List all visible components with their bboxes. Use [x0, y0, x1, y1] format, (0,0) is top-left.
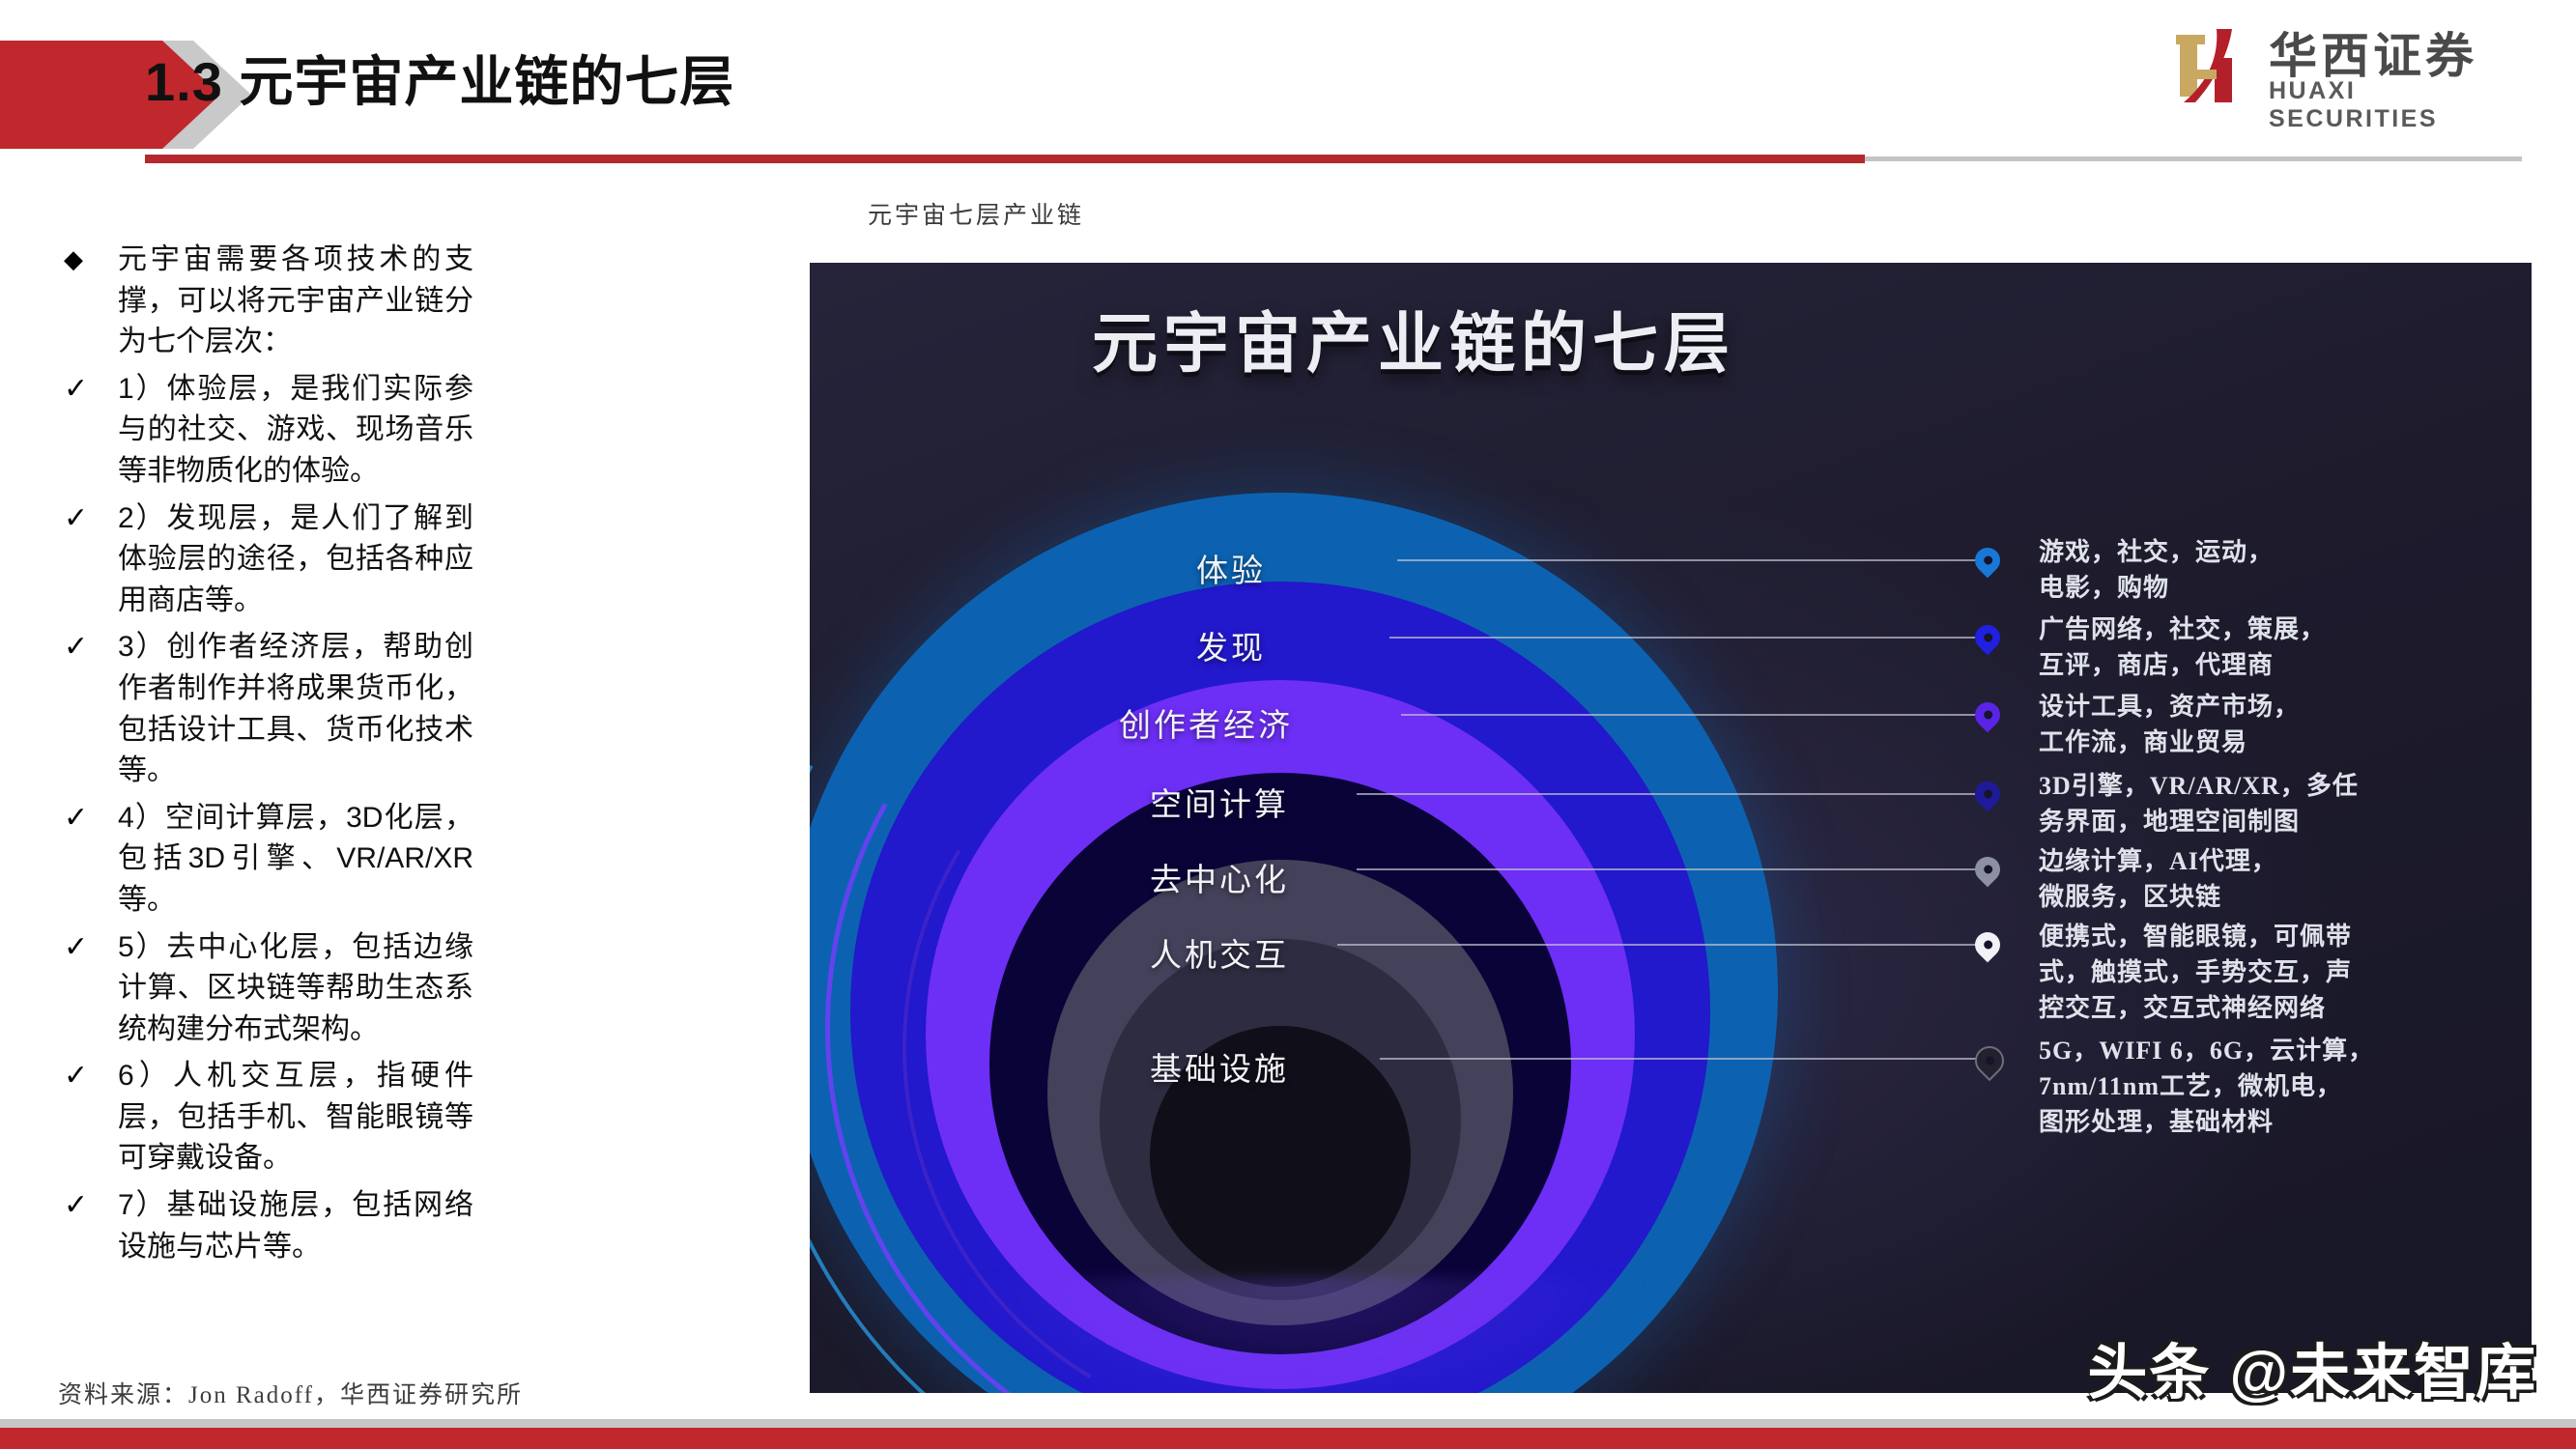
check-bullet-icon: ✓: [58, 927, 118, 969]
layer-label-spatial-computing: 空间计算: [1150, 779, 1289, 825]
annotation-discovery: 广告网络，社交，策展， 互评，商店，代理商: [2039, 612, 2425, 684]
annotation-line: 控交互，交互式神经网络: [2039, 991, 2425, 1027]
toutiao-watermark: 头条 @未来智库: [2087, 1323, 2537, 1410]
annotation-experience: 游戏，社交，运动， 电影，购物: [2039, 535, 2425, 607]
list-item: ✓ 2）发现层，是人们了解到体验层的途径，包括各种应用商店等。: [58, 498, 473, 622]
layer-label-experience: 体验: [1196, 545, 1266, 591]
title-underline-grey: [1865, 156, 2522, 161]
check-bullet-icon: ✓: [58, 798, 118, 839]
footer-red-bar: [0, 1428, 2576, 1449]
list-item: ✓ 1）体验层，是我们实际参与的社交、游戏、现场音乐等非物质化的体验。: [58, 369, 473, 493]
annotation-line: 边缘计算，AI代理，: [2039, 844, 2425, 880]
list-item: ✓ 4）空间计算层，3D化层，包括3D引擎、VR/AR/XR等。: [58, 798, 473, 922]
layer-label-creator-economy: 创作者经济: [1119, 699, 1293, 746]
leader-line-creator-economy: [1401, 714, 1989, 716]
annotation-creator-economy: 设计工具，资产市场， 工作流，商业贸易: [2039, 690, 2425, 761]
annotation-human-interface: 便携式，智能眼镜，可佩带 式，触摸式，手势交互，声 控交互，交互式神经网络: [2039, 920, 2425, 1027]
huaxi-h-mark-icon: [2172, 25, 2251, 106]
list-item: ✓ 7）基础设施层，包括网络设施与芯片等。: [58, 1185, 473, 1267]
diamond-bullet-icon: ◆: [58, 240, 118, 277]
annotation-line: 游戏，社交，运动，: [2039, 535, 2425, 571]
annotation-line: 3D引擎，VR/AR/XR，多任: [2039, 769, 2425, 805]
annotation-infrastructure: 5G，WIFI 6，6G，云计算， 7nm/11nm工艺，微机电， 图形处理，基…: [2039, 1034, 2425, 1141]
annotation-line: 广告网络，社交，策展，: [2039, 612, 2425, 648]
list-item-text: 3）创作者经济层，帮助创作者制作并将成果货币化，包括设计工具、货币化技术等。: [118, 627, 473, 791]
huaxi-securities-logo: 华西证券 HUAXI SECURITIES: [2172, 21, 2530, 110]
leader-line-spatial-computing: [1357, 793, 1989, 795]
list-item: ◆ 元宇宙需要各项技术的支撑，可以将元宇宙产业链分为七个层次：: [58, 240, 473, 363]
title-underline-red: [145, 155, 1865, 163]
list-item: ✓ 5）去中心化层，包括边缘计算、区块链等帮助生态系统构建分布式架构。: [58, 927, 473, 1051]
list-item: ✓ 6）人机交互层，指硬件层，包括手机、智能眼镜等可穿戴设备。: [58, 1056, 473, 1179]
check-bullet-icon: ✓: [58, 1185, 118, 1227]
annotation-line: 务界面，地理空间制图: [2039, 805, 2425, 840]
bullet-list: ◆ 元宇宙需要各项技术的支撑，可以将元宇宙产业链分为七个层次： ✓ 1）体验层，…: [58, 240, 473, 1273]
leader-line-infrastructure: [1380, 1058, 1989, 1060]
metaverse-layers-figure: 元宇宙产业链的七层 体验 发现 创作者经济 空间计算 去中心化 人机交互 基础设…: [810, 263, 2532, 1393]
check-bullet-icon: ✓: [58, 627, 118, 668]
list-item-text: 元宇宙需要各项技术的支撑，可以将元宇宙产业链分为七个层次：: [118, 240, 473, 363]
annotation-spatial-computing: 3D引擎，VR/AR/XR，多任 务界面，地理空间制图: [2039, 769, 2425, 840]
annotation-line: 工作流，商业贸易: [2039, 725, 2425, 761]
check-bullet-icon: ✓: [58, 369, 118, 411]
leader-line-discovery: [1389, 637, 1990, 639]
check-bullet-icon: ✓: [58, 1056, 118, 1097]
source-note: 资料来源：Jon Radoff，华西证券研究所: [58, 1376, 523, 1410]
leader-line-human-interface: [1337, 944, 1989, 946]
list-item-text: 5）去中心化层，包括边缘计算、区块链等帮助生态系统构建分布式架构。: [118, 927, 473, 1051]
annotation-line: 图形处理，基础材料: [2039, 1105, 2425, 1141]
layer-label-decentralization: 去中心化: [1150, 854, 1289, 900]
page-title: 1.3 元宇宙产业链的七层: [145, 39, 734, 117]
annotation-line: 7nm/11nm工艺，微机电，: [2039, 1069, 2425, 1105]
list-item-text: 7）基础设施层，包括网络设施与芯片等。: [118, 1185, 473, 1267]
list-item-text: 2）发现层，是人们了解到体验层的途径，包括各种应用商店等。: [118, 498, 473, 622]
list-item-text: 6）人机交互层，指硬件层，包括手机、智能眼镜等可穿戴设备。: [118, 1056, 473, 1179]
list-item-text: 1）体验层，是我们实际参与的社交、游戏、现场音乐等非物质化的体验。: [118, 369, 473, 493]
annotation-line: 互评，商店，代理商: [2039, 648, 2425, 684]
annotation-line: 5G，WIFI 6，6G，云计算，: [2039, 1034, 2425, 1069]
layer-label-infrastructure: 基础设施: [1150, 1043, 1289, 1090]
figure-reflection-glow: [955, 1277, 1650, 1393]
figure-heading: 元宇宙产业链的七层: [810, 290, 2018, 385]
layer-label-human-interface: 人机交互: [1150, 929, 1289, 976]
footer-grey-bar: [0, 1419, 2576, 1428]
list-item: ✓ 3）创作者经济层，帮助创作者制作并将成果货币化，包括设计工具、货币化技术等。: [58, 627, 473, 791]
check-bullet-icon: ✓: [58, 498, 118, 540]
annotation-line: 便携式，智能眼镜，可佩带: [2039, 920, 2425, 955]
logo-english-name: HUAXI SECURITIES: [2269, 77, 2530, 133]
layer-label-discovery: 发现: [1196, 622, 1266, 668]
annotation-line: 设计工具，资产市场，: [2039, 690, 2425, 725]
annotation-line: 微服务，区块链: [2039, 880, 2425, 916]
annotation-line: 式，触摸式，手势交互，声: [2039, 955, 2425, 991]
annotation-line: 电影，购物: [2039, 571, 2425, 607]
figure-caption: 元宇宙七层产业链: [868, 196, 1084, 231]
annotation-decentralization: 边缘计算，AI代理， 微服务，区块链: [2039, 844, 2425, 916]
leader-line-experience: [1397, 559, 1989, 561]
leader-line-decentralization: [1357, 868, 1989, 870]
list-item-text: 4）空间计算层，3D化层，包括3D引擎、VR/AR/XR等。: [118, 798, 473, 922]
